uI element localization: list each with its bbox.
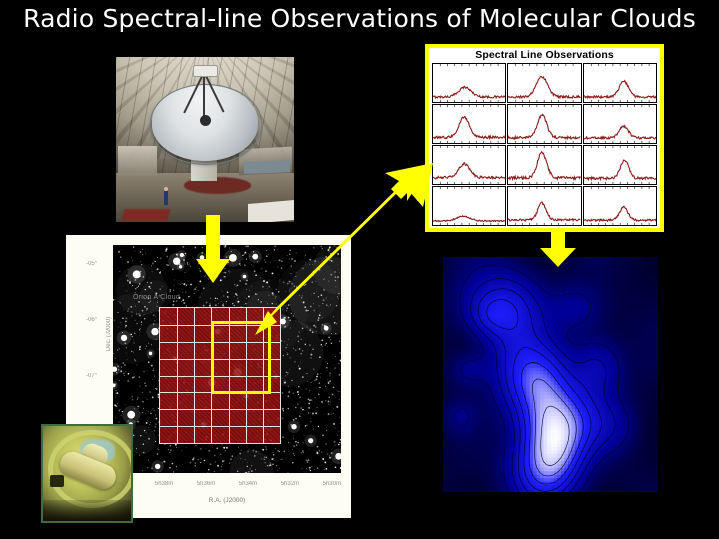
receiver-instrument-inset-photo [41, 424, 133, 523]
starfield-x-tick-labels: 5h40m5h38m5h36m5h34m5h32m5h30m [113, 481, 341, 487]
person-for-scale [164, 191, 168, 206]
spectrum-panel [583, 145, 657, 185]
spectra-panel-title: Spectral Line Observations [429, 48, 660, 62]
grid-line-horizontal [160, 426, 280, 427]
slide-canvas: Radio Spectral-line Observations of Mole… [0, 0, 719, 539]
spectrum-panel [432, 104, 506, 144]
spectrum-panel [507, 186, 581, 226]
starfield-region-label: Orion A Cloud [133, 294, 180, 301]
starfield-x-tick: 5h30m [323, 481, 341, 487]
starfield-x-tick: 5h34m [239, 481, 257, 487]
spectrum-panel [432, 145, 506, 185]
grid-line-horizontal [160, 409, 280, 410]
equipment-right-lower [244, 160, 290, 173]
starfield-x-tick: 5h38m [155, 481, 173, 487]
starfield-x-tick: 5h36m [197, 481, 215, 487]
floor-red-mat [121, 209, 171, 221]
starfield-y-tick: -05° [86, 261, 97, 267]
radio-telescope-dish-photo [116, 57, 294, 222]
spectrum-panel [507, 63, 581, 103]
spectrum-panel [583, 104, 657, 144]
page-title: Radio Spectral-line Observations of Mole… [0, 4, 719, 33]
spectral-line-observations-panel: Spectral Line Observations [425, 44, 664, 232]
receiver-black-module [50, 475, 64, 486]
molecular-cloud-intensity-map [443, 257, 658, 492]
starfield-y-tick: -07° [86, 373, 97, 379]
spectra-grid [432, 63, 657, 226]
mapped-region-highlight[interactable] [211, 321, 271, 394]
equipment-white-panel [248, 200, 294, 222]
spectrum-panel [432, 63, 506, 103]
feed-support-leg-center [203, 72, 205, 122]
receiver-foreground-shadow [43, 500, 131, 521]
spectrum-panel [507, 145, 581, 185]
spectrum-panel [507, 104, 581, 144]
spectrum-panel [583, 63, 657, 103]
starfield-x-axis-label: R.A. (J2000) [113, 497, 341, 504]
starfield-x-tick: 5h32m [281, 481, 299, 487]
spectrum-panel [583, 186, 657, 226]
starfield-y-tick: -06° [86, 317, 97, 323]
feed-receiver-box [193, 65, 218, 77]
spectrum-panel [432, 186, 506, 226]
starfield-y-axis-label: Dec. (J2000) [106, 289, 112, 379]
equipment-left [118, 146, 157, 176]
